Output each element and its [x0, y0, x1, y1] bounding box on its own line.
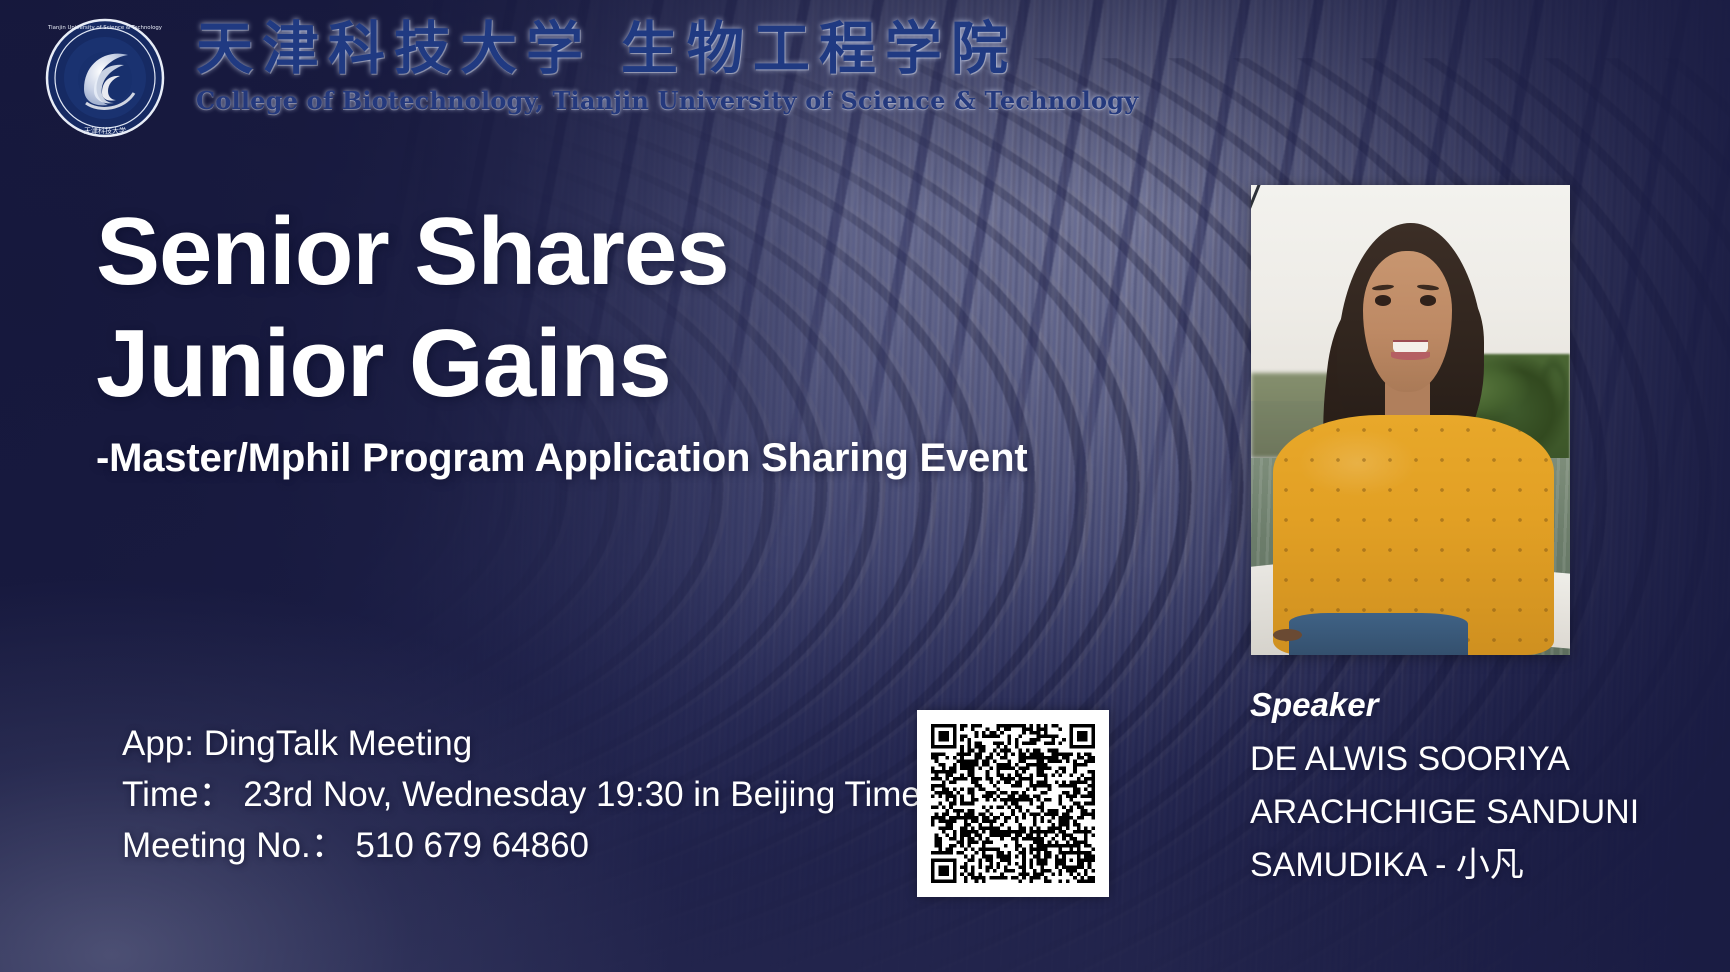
meeting-time: Time： 23rd Nov, Wednesday 19:30 in Beiji… — [122, 769, 921, 820]
meeting-app: App: DingTalk Meeting — [122, 718, 921, 769]
university-name-cn: 天津科技大学 生物工程学院 — [196, 20, 1138, 77]
headline-line-2: Junior Gains — [96, 308, 729, 420]
photo-eye-right — [1420, 295, 1436, 305]
speaker-photo — [1251, 185, 1570, 655]
poster-subtitle: -Master/Mphil Program Application Sharin… — [96, 436, 1027, 481]
photo-face — [1363, 251, 1452, 392]
speaker-label: Speaker — [1250, 685, 1720, 725]
event-poster: Tianjin University of Science & Technolo… — [0, 0, 1730, 972]
speaker-block: Speaker DE ALWIS SOORIYA ARACHCHIGE SAND… — [1250, 685, 1720, 892]
qr-code-icon[interactable] — [917, 710, 1109, 897]
svg-text:Tianjin University of Science: Tianjin University of Science & Technolo… — [47, 25, 163, 31]
photo-eye-left — [1375, 295, 1391, 305]
photo-bracelet — [1273, 629, 1302, 641]
university-name-en: College of Biotechnology, Tianjin Univer… — [196, 89, 1138, 113]
photo-lip — [1391, 352, 1429, 360]
university-name-block: 天津科技大学 生物工程学院 College of Biotechnology, … — [196, 20, 1138, 113]
speaker-name-line-1: DE ALWIS SOORIYA — [1250, 733, 1720, 786]
qr-code-image — [926, 719, 1100, 888]
headline-line-1: Senior Shares — [96, 196, 729, 308]
photo-jeans — [1289, 613, 1468, 655]
speaker-name: DE ALWIS SOORIYA ARACHCHIGE SANDUNI SAMU… — [1250, 733, 1720, 892]
poster-headline: Senior Shares Junior Gains — [96, 196, 729, 420]
university-seal-icon: Tianjin University of Science & Technolo… — [44, 17, 166, 139]
meeting-number: Meeting No.： 510 679 64860 — [122, 820, 921, 871]
speaker-name-line-3: SAMUDIKA - 小凡 — [1250, 839, 1720, 892]
poster-header: Tianjin University of Science & Technolo… — [0, 0, 1730, 150]
svg-text:天津科技大学: 天津科技大学 — [84, 126, 126, 135]
speaker-name-line-2: ARACHCHIGE SANDUNI — [1250, 786, 1720, 839]
meeting-info: App: DingTalk Meeting Time： 23rd Nov, We… — [122, 718, 921, 871]
